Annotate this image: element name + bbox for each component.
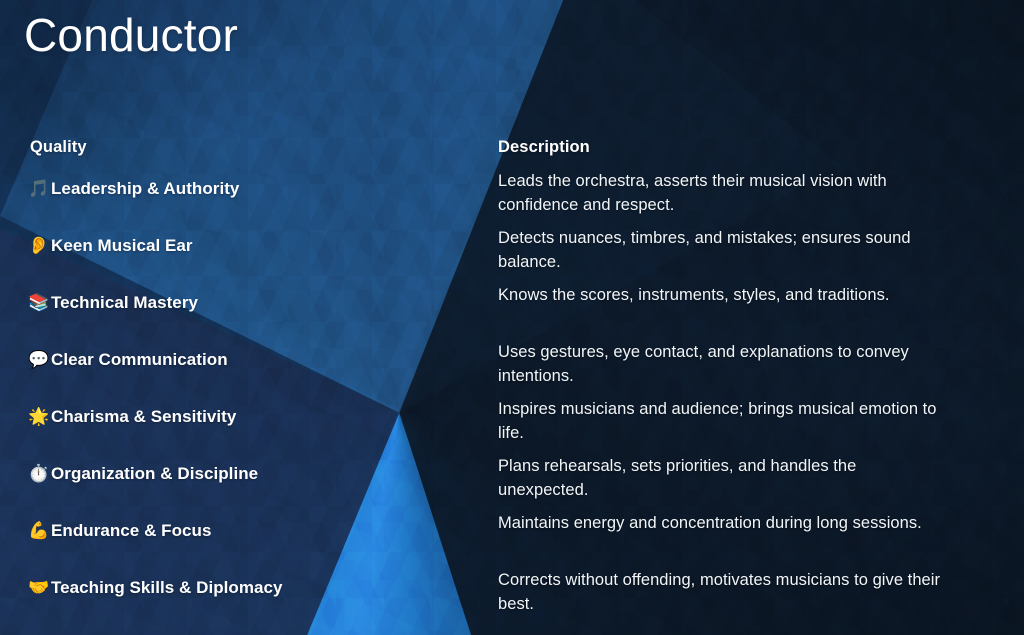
table-row: 💬 Clear Communication (28, 349, 478, 406)
description-text: Corrects without offending, motivates mu… (498, 569, 950, 616)
description-text: Leads the orchestra, asserts their music… (498, 170, 950, 217)
description-text: Detects nuances, timbres, and mistakes; … (498, 227, 950, 274)
page-title: Conductor (24, 10, 238, 61)
table-row: 🎵 Leadership & Authority (28, 178, 478, 235)
description-text: Plans rehearsals, sets priorities, and h… (498, 455, 950, 502)
quality-column: 🎵 Leadership & Authority 👂 Keen Musical … (28, 178, 478, 634)
ear-icon: 👂 (28, 235, 51, 257)
glowing-star-icon: 🌟 (28, 406, 51, 428)
quality-label: Endurance & Focus (51, 520, 212, 542)
table-row: Plans rehearsals, sets priorities, and h… (498, 455, 950, 512)
table-row: Leads the orchestra, asserts their music… (498, 170, 950, 227)
quality-label: Organization & Discipline (51, 463, 258, 485)
table-row: 💪 Endurance & Focus (28, 520, 478, 577)
quality-label: Charisma & Sensitivity (51, 406, 236, 428)
quality-label: Clear Communication (51, 349, 228, 371)
description-column: Leads the orchestra, asserts their music… (498, 170, 950, 626)
stopwatch-icon: ⏱️ (28, 463, 51, 485)
quality-label: Teaching Skills & Diplomacy (51, 577, 283, 599)
quality-label: Technical Mastery (51, 292, 198, 314)
table-row: Uses gestures, eye contact, and explanat… (498, 341, 950, 398)
speech-balloon-icon: 💬 (28, 349, 51, 371)
table-row: 🤝 Teaching Skills & Diplomacy (28, 577, 478, 634)
description-text: Knows the scores, instruments, styles, a… (498, 284, 950, 308)
column-header-description: Description (498, 138, 590, 157)
table-row: Inspires musicians and audience; brings … (498, 398, 950, 455)
table-row: ⏱️ Organization & Discipline (28, 463, 478, 520)
table-row: 👂 Keen Musical Ear (28, 235, 478, 292)
column-header-quality: Quality (30, 138, 87, 157)
description-text: Uses gestures, eye contact, and explanat… (498, 341, 950, 388)
handshake-icon: 🤝 (28, 577, 51, 599)
description-text: Maintains energy and concentration durin… (498, 512, 950, 536)
table-row: 🌟 Charisma & Sensitivity (28, 406, 478, 463)
quality-label: Keen Musical Ear (51, 235, 193, 257)
table-row: Knows the scores, instruments, styles, a… (498, 284, 950, 341)
presentation-slide: Conductor Quality Description 🎵 Leadersh… (0, 0, 1024, 635)
books-icon: 📚 (28, 292, 51, 314)
table-row: Corrects without offending, motivates mu… (498, 569, 950, 626)
slide-content: Conductor Quality Description 🎵 Leadersh… (0, 0, 1024, 635)
description-text: Inspires musicians and audience; brings … (498, 398, 950, 445)
flexed-biceps-icon: 💪 (28, 520, 51, 542)
table-row: Detects nuances, timbres, and mistakes; … (498, 227, 950, 284)
table-row: Maintains energy and concentration durin… (498, 512, 950, 569)
musical-note-icon: 🎵 (28, 178, 51, 200)
quality-label: Leadership & Authority (51, 178, 239, 200)
table-row: 📚 Technical Mastery (28, 292, 478, 349)
